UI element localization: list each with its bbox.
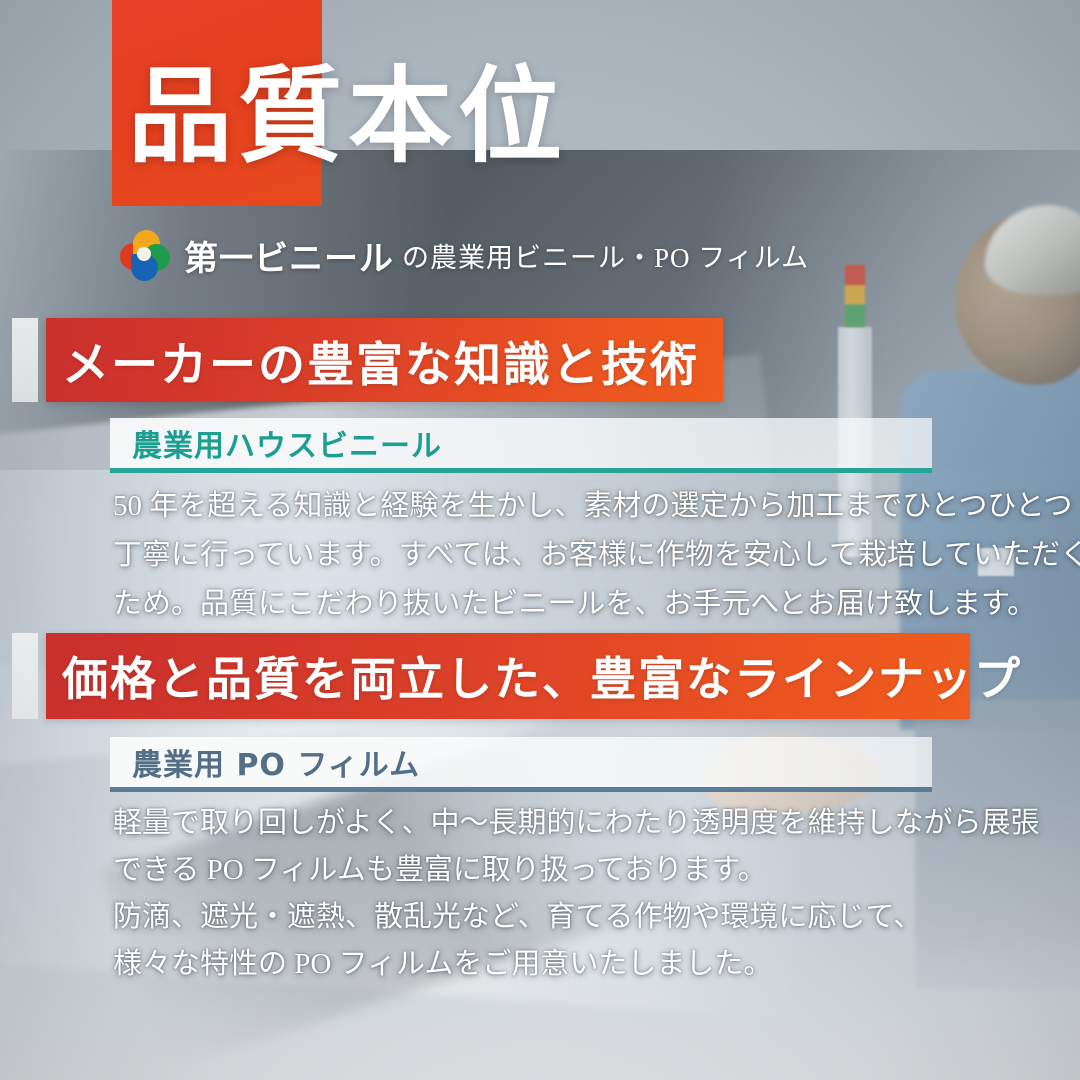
body-line: 軽量で取り回しがよく、中〜長期的にわたり透明度を維持しながら展張 — [113, 800, 1040, 847]
page-title: 品質本位 — [128, 66, 568, 170]
subheading-label-2: 農業用 PO フィルム — [110, 740, 420, 784]
body-paragraph-section-2: 軽量で取り回しがよく、中〜長期的にわたり透明度を維持しながら展張 できる PO … — [113, 800, 1040, 988]
headline-band-label-1: メーカーの豊富な知識と技術 — [46, 326, 699, 395]
subheading-plate-section-1: 農業用ハウスビニール — [110, 418, 932, 473]
brand-line: 第一ビニール の農業用ビニール・PO フィルム — [120, 228, 809, 282]
headline-band-label-2: 価格と品質を両立した、豊富なラインナップ — [46, 643, 1022, 709]
body-line: 50 年を超える知識と経験を生かし、素材の選定から加工までひとつひとつ — [113, 482, 1080, 531]
subheading-plate-section-2: 農業用 PO フィルム — [110, 737, 932, 792]
body-paragraph-section-1: 50 年を超える知識と経験を生かし、素材の選定から加工までひとつひとつ 丁寧に行… — [113, 482, 1080, 629]
brand-name: 第一ビニール — [184, 231, 394, 280]
promotional-banner: 品質本位 第一ビニール の農業用ビニール・PO フィルム メーカーの豊富な知識と… — [0, 0, 1080, 1080]
accent-bar-section-2 — [12, 633, 38, 719]
body-line: できる PO フィルムも豊富に取り扱っております。 — [113, 847, 1040, 894]
body-line: 様々な特性の PO フィルムをご用意いたしました。 — [113, 941, 1040, 988]
body-line: ため。品質にこだわり抜いたビニールを、お手元へとお届け致します。 — [113, 580, 1080, 629]
body-line: 丁寧に行っています。すべては、お客様に作物を安心して栽培していただく — [113, 531, 1080, 580]
four-petal-flower-logo-icon — [120, 230, 170, 280]
headline-band-section-1: メーカーの豊富な知識と技術 — [46, 318, 723, 402]
headline-band-section-2: 価格と品質を両立した、豊富なラインナップ — [46, 633, 970, 719]
subheading-label-1: 農業用ハウスビニール — [110, 421, 442, 465]
body-line: 防滴、遮光・遮熱、散乱光など、育てる作物や環境に応じて、 — [113, 894, 1040, 941]
brand-tagline: の農業用ビニール・PO フィルム — [402, 236, 809, 275]
accent-bar-section-1 — [12, 318, 38, 402]
